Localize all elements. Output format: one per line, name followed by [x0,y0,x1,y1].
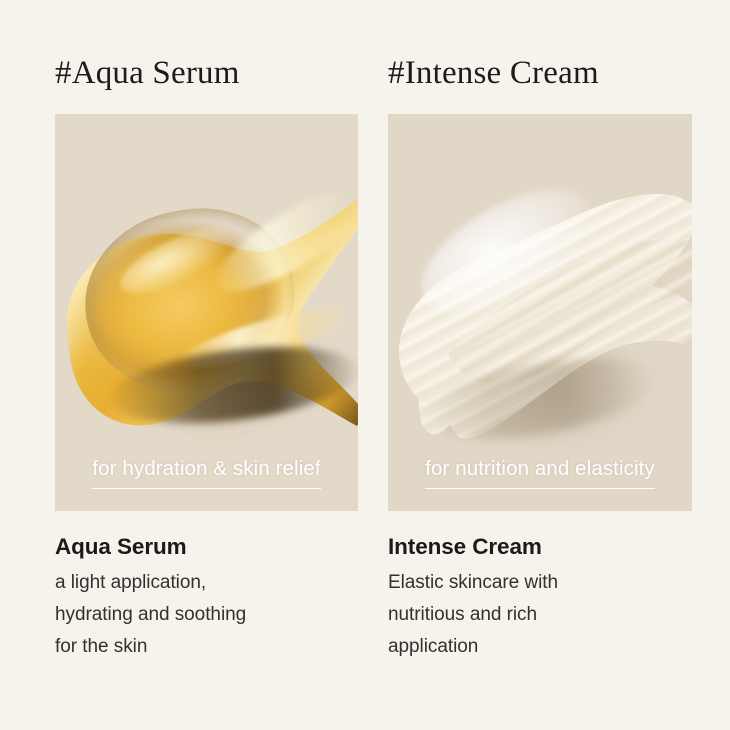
product-image-panel[interactable]: for hydration & skin relief [55,114,358,511]
image-caption-text: for hydration & skin relief [92,457,320,489]
product-comparison-page: #Aqua Serum for hydration & skin relief [0,0,730,730]
ivory-cream-swatch-image [388,114,692,511]
image-caption-text: for nutrition and elasticity [425,457,655,489]
product-description: a light application, hydrating and sooth… [55,567,358,663]
product-name: Aqua Serum [55,533,358,561]
product-hashtag: #Intense Cream [388,0,692,90]
product-card-intense-cream[interactable]: #Intense Cream for nutrition and elastic… [388,0,692,663]
product-info: Aqua Serum a light application, hydratin… [55,511,358,663]
product-columns: #Aqua Serum for hydration & skin relief [0,0,730,663]
product-name: Intense Cream [388,533,692,561]
product-info: Intense Cream Elastic skincare with nutr… [388,511,692,663]
image-caption: for nutrition and elasticity [388,457,692,489]
product-hashtag: #Aqua Serum [55,0,358,90]
product-description: Elastic skincare with nutritious and ric… [388,567,692,663]
product-image-panel[interactable]: for nutrition and elasticity [388,114,692,511]
product-card-aqua-serum[interactable]: #Aqua Serum for hydration & skin relief [55,0,358,663]
golden-gel-swatch-image [55,114,358,511]
image-caption: for hydration & skin relief [55,457,358,489]
